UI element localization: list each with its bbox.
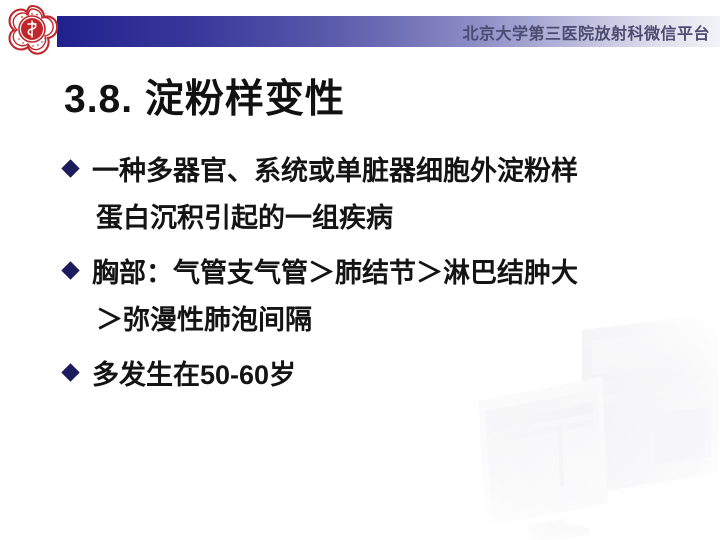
list-item-line: 蛋白沉积引起的一组疾病 [92,195,692,242]
diamond-bullet-icon [61,363,79,381]
list-item-text: 胸部：气管支气管＞肺结节＞淋巴结肿大 ＞弥漫性肺泡间隔 [92,250,692,344]
slide-content: 3.8. 淀粉样变性 一种多器官、系统或单脏器细胞外淀粉样 蛋白沉积引起的一组疾… [0,0,720,540]
list-item-line: 一种多器官、系统或单脏器细胞外淀粉样 [92,148,692,195]
diamond-bullet-icon [61,261,79,279]
slide-header: 北京大学第三医院放射科微信平台 [0,0,720,62]
page-title: 3.8. 淀粉样变性 [64,68,345,124]
list-item-line: 胸部：气管支气管＞肺结节＞淋巴结肿大 [92,250,692,297]
diamond-bullet-icon [61,159,79,177]
header-banner: 北京大学第三医院放射科微信平台 [57,16,720,47]
bullet-list: 一种多器官、系统或单脏器细胞外淀粉样 蛋白沉积引起的一组疾病 胸部：气管支气管＞… [62,148,692,407]
list-item-line: 多发生在50-60岁 [92,352,692,399]
list-item-text: 一种多器官、系统或单脏器细胞外淀粉样 蛋白沉积引起的一组疾病 [92,148,692,242]
list-item: 多发生在50-60岁 [62,352,692,399]
list-item: 一种多器官、系统或单脏器细胞外淀粉样 蛋白沉积引起的一组疾病 [62,148,692,242]
institution-logo-icon [4,3,60,60]
list-item: 胸部：气管支气管＞肺结节＞淋巴结肿大 ＞弥漫性肺泡间隔 [62,250,692,344]
header-banner-title: 北京大学第三医院放射科微信平台 [462,20,710,44]
list-item-text: 多发生在50-60岁 [92,352,692,399]
list-item-line: ＞弥漫性肺泡间隔 [92,297,692,344]
slide-canvas: 北京大学第三医院放射科微信平台 [0,0,720,540]
